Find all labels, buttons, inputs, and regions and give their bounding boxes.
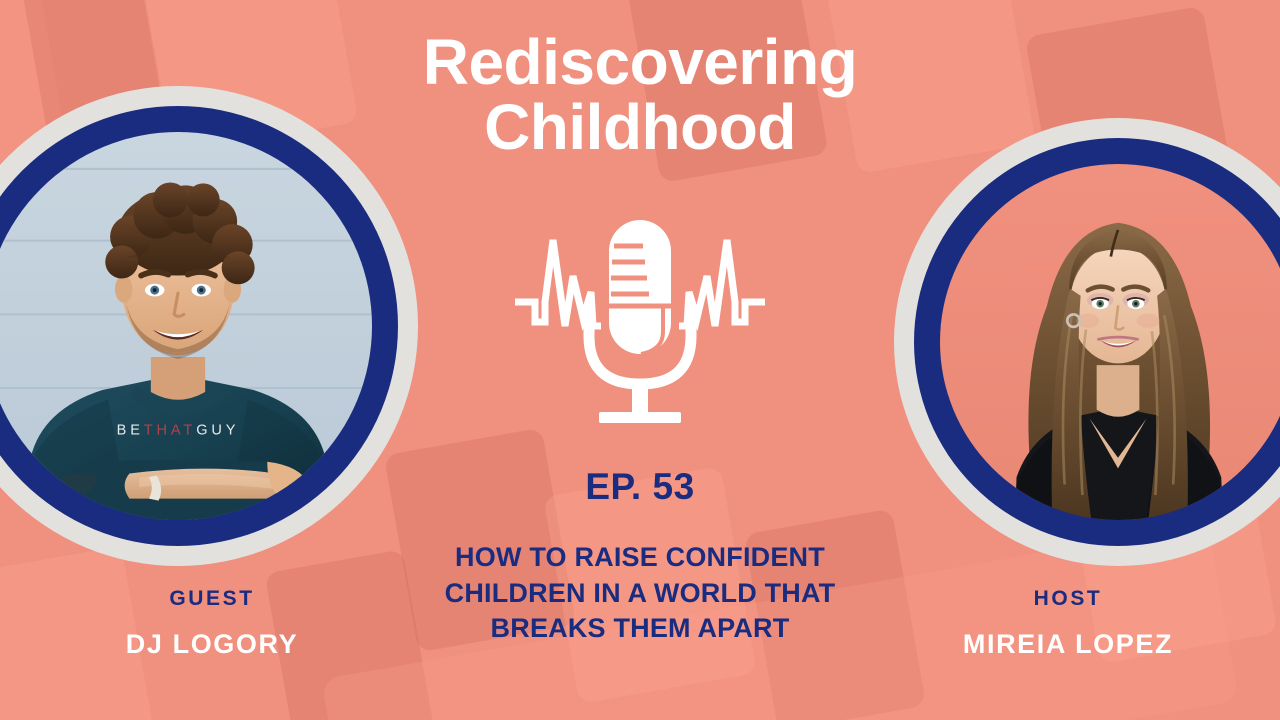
show-title: Rediscovering Childhood xyxy=(380,30,900,161)
show-title-line-1: Rediscovering xyxy=(380,30,900,95)
host-role-label: HOST xyxy=(898,588,1238,609)
host-photo-illustration xyxy=(940,164,1280,520)
episode-title: HOW TO RAISE CONFIDENT CHILDREN IN A WOR… xyxy=(380,540,900,647)
microphone-icon-svg xyxy=(513,214,767,428)
guest-shirt-text: BETHATGUY xyxy=(117,423,240,439)
guest-portrait-frame: BETHATGUY xyxy=(0,86,418,566)
episode-title-line-2: CHILDREN IN A WORLD THAT xyxy=(380,576,900,612)
episode-number: EP. 53 xyxy=(380,466,900,508)
microphone-icon xyxy=(513,214,767,428)
host-portrait-frame xyxy=(894,118,1280,566)
host-name: MIREIA LOPEZ xyxy=(898,631,1238,658)
guest-caption: GUEST DJ LOGORY xyxy=(42,588,382,658)
host-photo xyxy=(940,164,1280,520)
guest-role-label: GUEST xyxy=(42,588,382,609)
host-caption: HOST MIREIA LOPEZ xyxy=(898,588,1238,658)
center-content: Rediscovering Childhood xyxy=(380,0,900,720)
guest-photo: BETHATGUY xyxy=(0,132,372,520)
guest-photo-illustration: BETHATGUY xyxy=(0,132,372,520)
show-title-line-2: Childhood xyxy=(380,95,900,160)
episode-title-line-1: HOW TO RAISE CONFIDENT xyxy=(380,540,900,576)
guest-name: DJ LOGORY xyxy=(42,631,382,658)
episode-title-line-3: BREAKS THEM APART xyxy=(380,611,900,647)
podcast-episode-cover: BETHATGUY xyxy=(0,0,1280,720)
